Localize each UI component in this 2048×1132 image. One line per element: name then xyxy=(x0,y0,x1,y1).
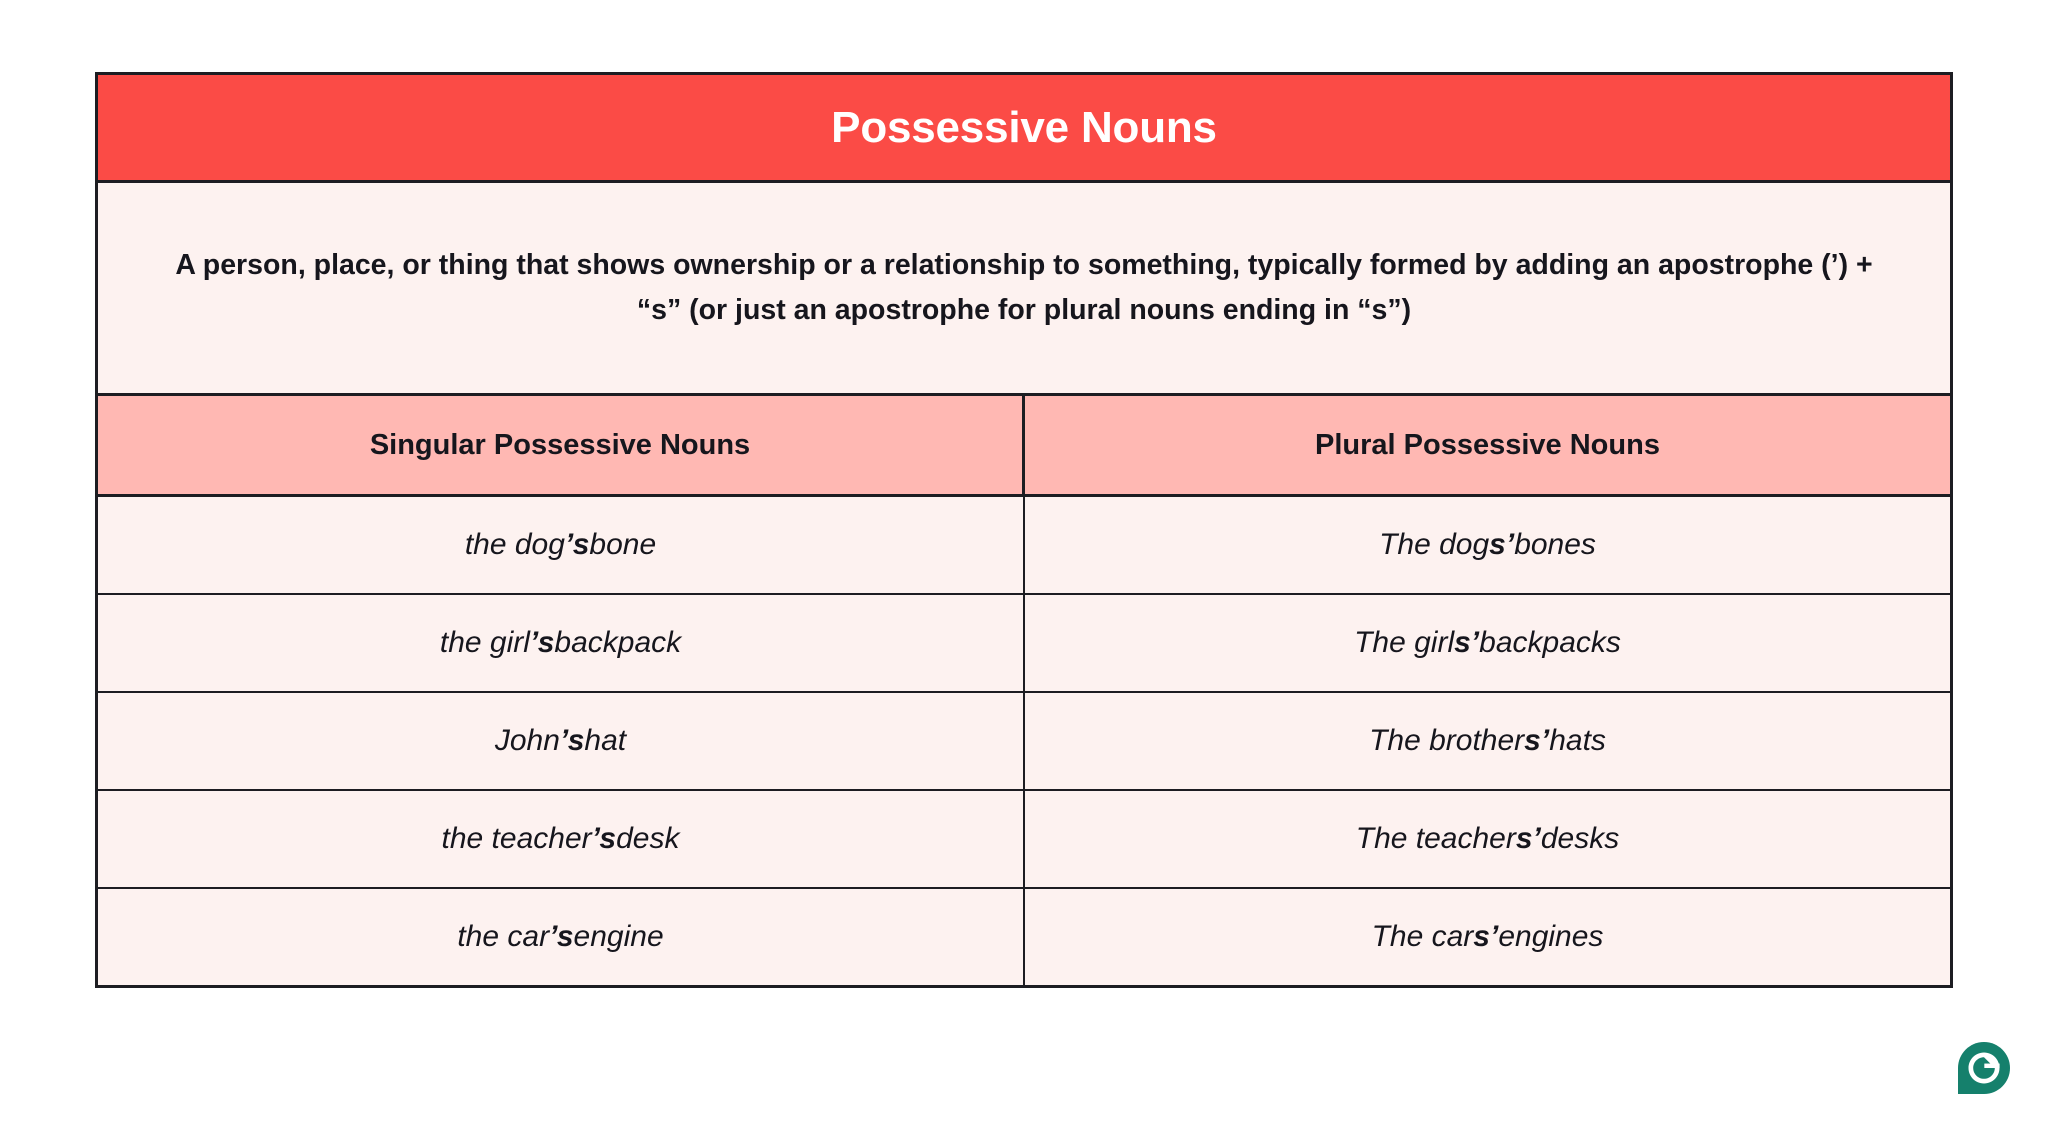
cell-text-post: bones xyxy=(1514,528,1596,562)
cell-text-post: hat xyxy=(584,724,626,758)
cell-plural: The cars’ engines xyxy=(1025,889,1950,985)
cell-text-possessive-mark: ’s xyxy=(549,920,573,954)
cell-singular: the car’s engine xyxy=(98,889,1025,985)
cell-text-pre: The girl xyxy=(1354,626,1454,660)
cell-text-pre: the dog xyxy=(465,528,565,562)
possessive-nouns-table: Possessive Nouns A person, place, or thi… xyxy=(95,72,1953,988)
cell-text-possessive-mark: s’ xyxy=(1489,528,1514,562)
cell-singular: the girl’s backpack xyxy=(98,595,1025,691)
cell-text-possessive-mark: ’s xyxy=(560,724,584,758)
cell-text-post: desk xyxy=(616,822,679,856)
table-body: the dog’s bone The dogs’ bones the girl’… xyxy=(98,497,1950,985)
cell-plural: The teachers’ desks xyxy=(1025,791,1950,887)
cell-text-post: hats xyxy=(1549,724,1606,758)
table-row: the car’s engine The cars’ engines xyxy=(98,889,1950,985)
table-row: the girl’s backpack The girls’ backpacks xyxy=(98,595,1950,693)
cell-text-pre: John xyxy=(495,724,560,758)
cell-singular: the dog’s bone xyxy=(98,497,1025,593)
column-header-singular: Singular Possessive Nouns xyxy=(98,396,1025,494)
cell-singular: the teacher’s desk xyxy=(98,791,1025,887)
cell-text-pre: The teacher xyxy=(1356,822,1516,856)
cell-plural: The girls’ backpacks xyxy=(1025,595,1950,691)
cell-text-possessive-mark: ’s xyxy=(592,822,616,856)
column-header-row: Singular Possessive Nouns Plural Possess… xyxy=(98,396,1950,497)
cell-text-possessive-mark: ’s xyxy=(530,626,554,660)
cell-text-possessive-mark: s’ xyxy=(1524,724,1549,758)
cell-text-post: bone xyxy=(589,528,656,562)
cell-plural: The brothers’ hats xyxy=(1025,693,1950,789)
cell-text-pre: the car xyxy=(457,920,549,954)
cell-text-post: backpack xyxy=(554,626,681,660)
definition-text: A person, place, or thing that shows own… xyxy=(168,243,1880,333)
cell-text-post: engines xyxy=(1498,920,1603,954)
table-row: the dog’s bone The dogs’ bones xyxy=(98,497,1950,595)
cell-singular: John’s hat xyxy=(98,693,1025,789)
cell-text-post: desks xyxy=(1541,822,1619,856)
table-row: John’s hat The brothers’ hats xyxy=(98,693,1950,791)
cell-text-pre: The car xyxy=(1372,920,1474,954)
worksheet-page: Possessive Nouns A person, place, or thi… xyxy=(0,0,2048,1132)
cell-text-pre: the girl xyxy=(440,626,530,660)
cell-text-possessive-mark: ’s xyxy=(565,528,589,562)
cell-text-post: backpacks xyxy=(1479,626,1621,660)
cell-text-possessive-mark: s’ xyxy=(1516,822,1541,856)
page-title: Possessive Nouns xyxy=(831,106,1217,150)
grammarly-logo xyxy=(1958,1042,2010,1094)
cell-text-pre: the teacher xyxy=(442,822,592,856)
cell-text-post: engine xyxy=(574,920,664,954)
table-row: the teacher’s desk The teachers’ desks xyxy=(98,791,1950,889)
definition-band: A person, place, or thing that shows own… xyxy=(98,183,1950,396)
column-header-plural: Plural Possessive Nouns xyxy=(1025,396,1950,494)
cell-text-pre: The dog xyxy=(1379,528,1489,562)
cell-text-pre: The brother xyxy=(1369,724,1524,758)
cell-plural: The dogs’ bones xyxy=(1025,497,1950,593)
table-title-bar: Possessive Nouns xyxy=(98,75,1950,183)
cell-text-possessive-mark: s’ xyxy=(1454,626,1479,660)
cell-text-possessive-mark: s’ xyxy=(1473,920,1498,954)
